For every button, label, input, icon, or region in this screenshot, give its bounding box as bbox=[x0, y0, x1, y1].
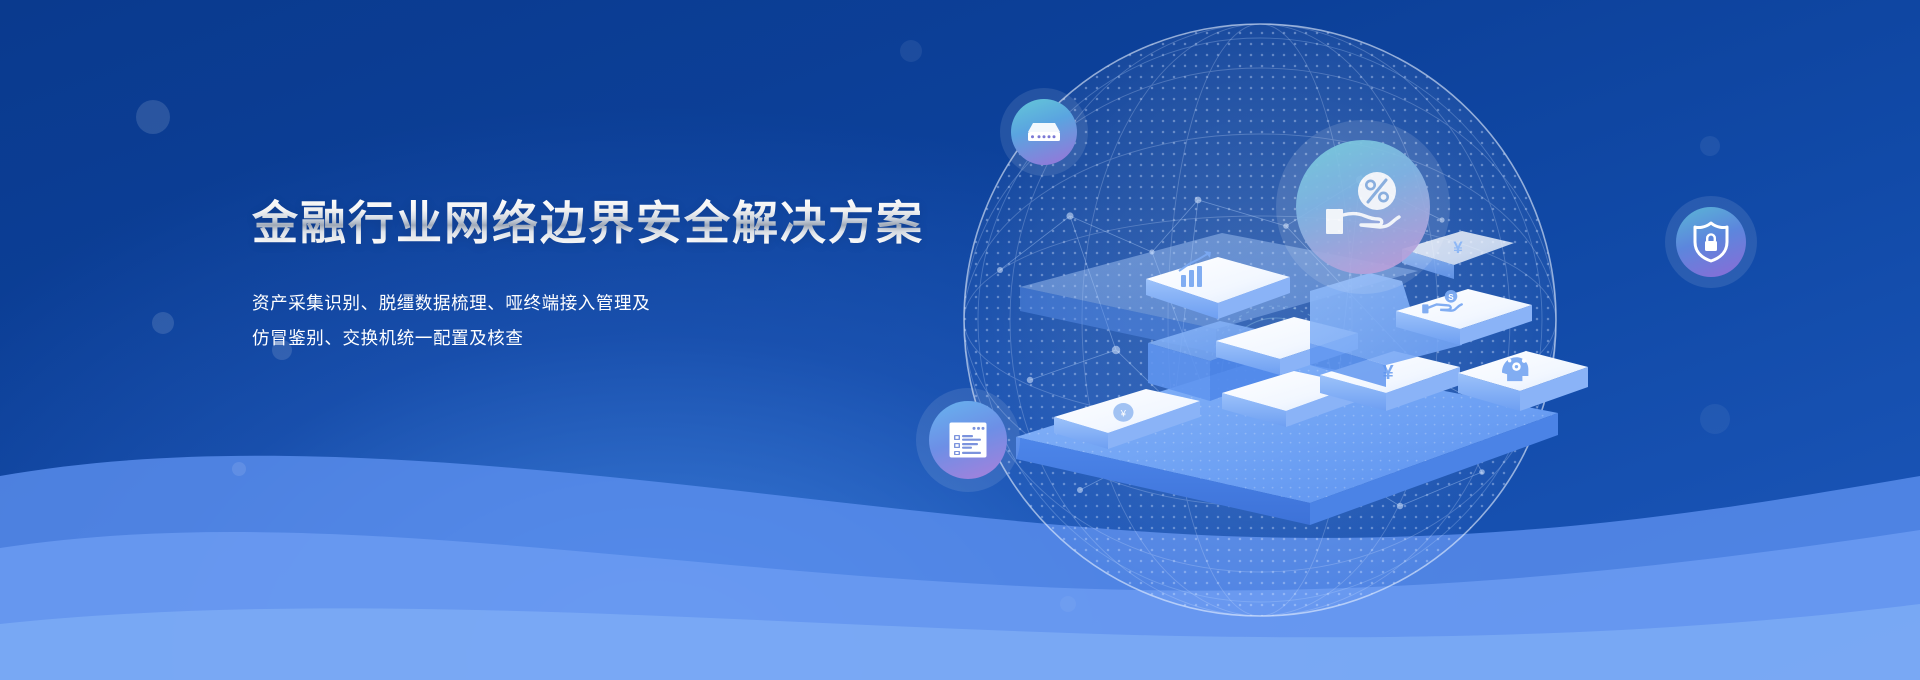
bokeh-circle bbox=[900, 40, 922, 62]
svg-text:¥: ¥ bbox=[1120, 408, 1127, 418]
shield-badge bbox=[1665, 196, 1757, 288]
bokeh-circle bbox=[136, 100, 170, 134]
finance-badge bbox=[1276, 120, 1450, 294]
svg-text:S: S bbox=[1448, 293, 1454, 302]
badge-core bbox=[1676, 207, 1746, 277]
svg-text:¥: ¥ bbox=[1453, 238, 1463, 257]
shield-lock-icon bbox=[1691, 220, 1731, 264]
router-badge bbox=[1000, 88, 1088, 176]
page-subtitle: 资产采集识别、脱缰数据梳理、哑终端接入管理及 仿冒鉴别、交换机统一配置及核查 bbox=[252, 286, 1012, 356]
subtitle-line-1: 资产采集识别、脱缰数据梳理、哑终端接入管理及 bbox=[252, 286, 1012, 321]
document-badge bbox=[916, 388, 1020, 492]
page-title: 金融行业网络边界安全解决方案 bbox=[252, 196, 1012, 250]
badge-core bbox=[929, 401, 1007, 479]
bokeh-circle bbox=[232, 462, 246, 476]
subtitle-line-2: 仿冒鉴别、交换机统一配置及核查 bbox=[252, 321, 1012, 356]
badge-core bbox=[1296, 140, 1430, 274]
bokeh-circle bbox=[1700, 404, 1730, 434]
hero-banner: ¥ bbox=[0, 0, 1920, 680]
hand-percent-icon bbox=[1320, 171, 1406, 243]
bokeh-circle bbox=[1700, 136, 1720, 156]
document-list-icon bbox=[947, 419, 989, 461]
router-switch-icon bbox=[1024, 117, 1064, 147]
badge-core bbox=[1011, 99, 1077, 165]
bokeh-circle bbox=[152, 312, 174, 334]
hero-copy: 金融行业网络边界安全解决方案 资产采集识别、脱缰数据梳理、哑终端接入管理及 仿冒… bbox=[252, 196, 1012, 356]
